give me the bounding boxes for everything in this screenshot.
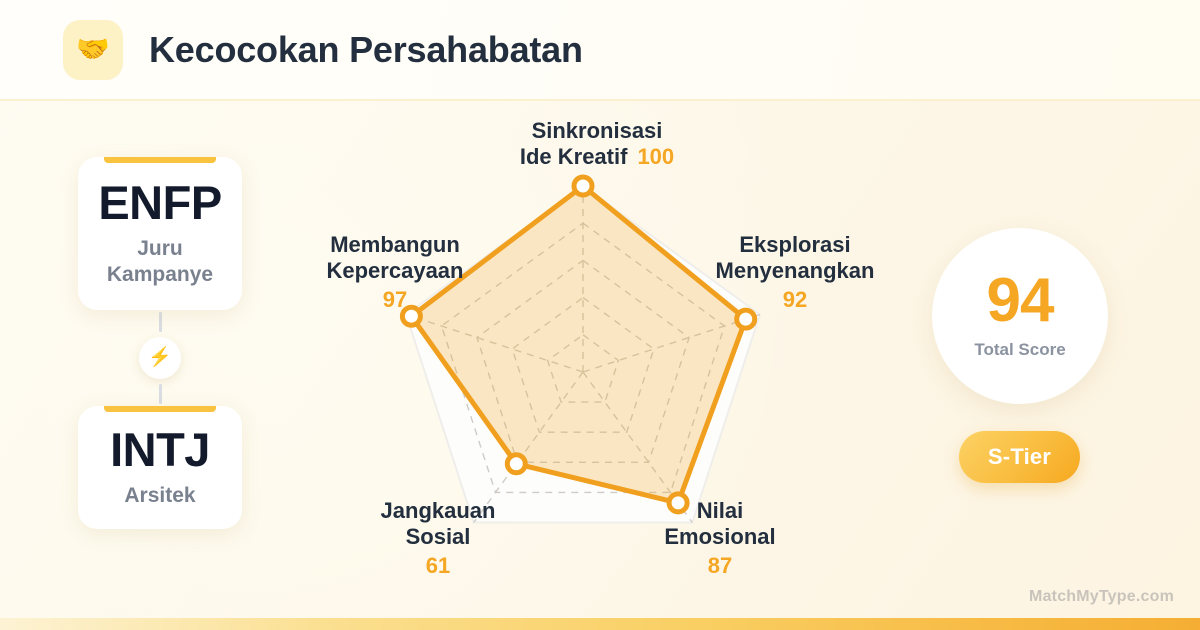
axis-label-sinkronisasi-ide-kreatif: Sinkronisasi Ide Kreatif100 bbox=[472, 118, 722, 171]
personality-name: Arsitek bbox=[86, 483, 234, 509]
connector-line-top bbox=[159, 312, 162, 332]
radar-vertex-0 bbox=[574, 177, 592, 195]
axis-label-membangun-kepercayaan: Membangun Kepercayaan 97 bbox=[270, 232, 520, 313]
page-title: Kecocokan Persahabatan bbox=[149, 29, 583, 71]
personality-name: Juru Kampanye bbox=[86, 236, 234, 288]
radar-vertex-3 bbox=[507, 455, 525, 473]
handshake-icon: 🤝 bbox=[63, 20, 123, 80]
axis-label-line2: Ide Kreatif bbox=[520, 144, 628, 169]
axis-label-line2: Emosional bbox=[664, 524, 775, 549]
bottom-accent-bar bbox=[0, 618, 1200, 630]
pair-connector: ⚡ bbox=[139, 310, 181, 406]
axis-label-eksplorasi-menyenangkan: Eksplorasi Menyenangkan 92 bbox=[670, 232, 920, 313]
personality-code: ENFP bbox=[86, 179, 234, 228]
axis-value-membangun-kepercayaan: 97 bbox=[270, 287, 520, 313]
axis-label-line2: Sosial bbox=[406, 524, 471, 549]
axis-value-nilai-emosional: 87 bbox=[610, 553, 830, 579]
axis-label-line1: Nilai bbox=[697, 498, 743, 523]
site-watermark: MatchMyType.com bbox=[1029, 588, 1174, 606]
tier-badge[interactable]: S-Tier bbox=[959, 431, 1080, 483]
personality-card-intj[interactable]: INTJ Arsitek bbox=[78, 406, 242, 529]
axis-value-jangkauan-sosial: 61 bbox=[328, 553, 548, 579]
axis-value-sinkronisasi-ide-kreatif: 100 bbox=[637, 144, 674, 170]
axis-label-jangkauan-sosial: Jangkauan Sosial 61 bbox=[328, 498, 548, 579]
total-score-value: 94 bbox=[987, 272, 1054, 331]
connector-line-bottom bbox=[159, 384, 162, 404]
personality-pair-column: ENFP Juru Kampanye ⚡ INTJ Arsitek bbox=[78, 157, 242, 529]
axis-label-line2: Kepercayaan bbox=[327, 258, 464, 283]
total-score-label: Total Score bbox=[974, 340, 1065, 360]
axis-value-eksplorasi-menyenangkan: 92 bbox=[670, 287, 920, 313]
compatibility-poster: 🤝 Kecocokan Persahabatan ENFP Juru Kampa… bbox=[0, 0, 1200, 630]
personality-code: INTJ bbox=[86, 426, 234, 475]
header-bar: 🤝 Kecocokan Persahabatan bbox=[0, 0, 1200, 101]
total-score-badge: 94 Total Score bbox=[932, 228, 1108, 404]
axis-label-line1: Eksplorasi bbox=[739, 232, 850, 257]
radar-chart: Sinkronisasi Ide Kreatif100 Eksplorasi M… bbox=[286, 104, 906, 604]
axis-label-line1: Jangkauan bbox=[381, 498, 496, 523]
lightning-bolt-icon: ⚡ bbox=[139, 337, 181, 379]
axis-label-line1: Sinkronisasi bbox=[532, 118, 663, 143]
axis-label-nilai-emosional: Nilai Emosional 87 bbox=[610, 498, 830, 579]
axis-label-line1: Membangun bbox=[330, 232, 460, 257]
personality-card-enfp[interactable]: ENFP Juru Kampanye bbox=[78, 157, 242, 310]
axis-label-line2: Menyenangkan bbox=[716, 258, 875, 283]
